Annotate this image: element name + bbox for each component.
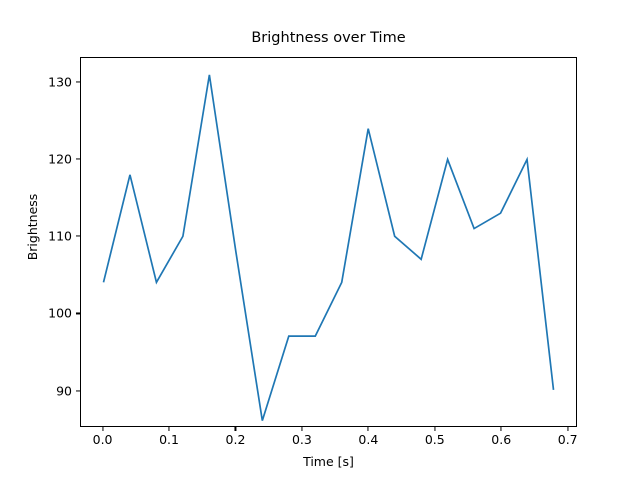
y-tick-mark bbox=[76, 81, 80, 82]
x-axis-label: Time [s] bbox=[80, 454, 577, 469]
y-tick-label: 100 bbox=[48, 306, 72, 321]
x-axis-tick-labels: 0.00.10.20.30.40.50.60.7 bbox=[80, 432, 577, 452]
y-tick-mark bbox=[76, 313, 80, 314]
x-tick-mark bbox=[434, 427, 435, 431]
y-axis-tick-labels: 90100110120130 bbox=[0, 57, 72, 427]
x-tick-label: 0.1 bbox=[159, 432, 179, 447]
x-tick-label: 0.4 bbox=[358, 432, 378, 447]
x-tick-label: 0.6 bbox=[491, 432, 511, 447]
x-tick-mark bbox=[235, 427, 236, 431]
y-tick-label: 90 bbox=[56, 383, 72, 398]
line-series-brightness bbox=[81, 58, 576, 426]
y-tick-mark bbox=[76, 158, 80, 159]
x-tick-label: 0.0 bbox=[93, 432, 113, 447]
y-tick-mark bbox=[76, 390, 80, 391]
chart-title: Brightness over Time bbox=[80, 30, 577, 46]
x-tick-mark bbox=[368, 427, 369, 431]
y-tick-mark bbox=[76, 236, 80, 237]
x-tick-mark bbox=[567, 427, 568, 431]
x-tick-mark bbox=[501, 427, 502, 431]
data-line bbox=[103, 75, 553, 421]
figure-canvas: Brightness over Time Brightness 90100110… bbox=[0, 0, 640, 480]
x-tick-label: 0.5 bbox=[425, 432, 445, 447]
y-tick-label: 130 bbox=[48, 74, 72, 89]
x-tick-label: 0.2 bbox=[226, 432, 246, 447]
x-tick-label: 0.7 bbox=[558, 432, 578, 447]
x-tick-label: 0.3 bbox=[292, 432, 312, 447]
x-tick-mark bbox=[102, 427, 103, 431]
x-tick-mark bbox=[301, 427, 302, 431]
plot-area bbox=[80, 57, 577, 427]
y-tick-label: 110 bbox=[48, 229, 72, 244]
y-tick-label: 120 bbox=[48, 151, 72, 166]
x-tick-mark bbox=[168, 427, 169, 431]
